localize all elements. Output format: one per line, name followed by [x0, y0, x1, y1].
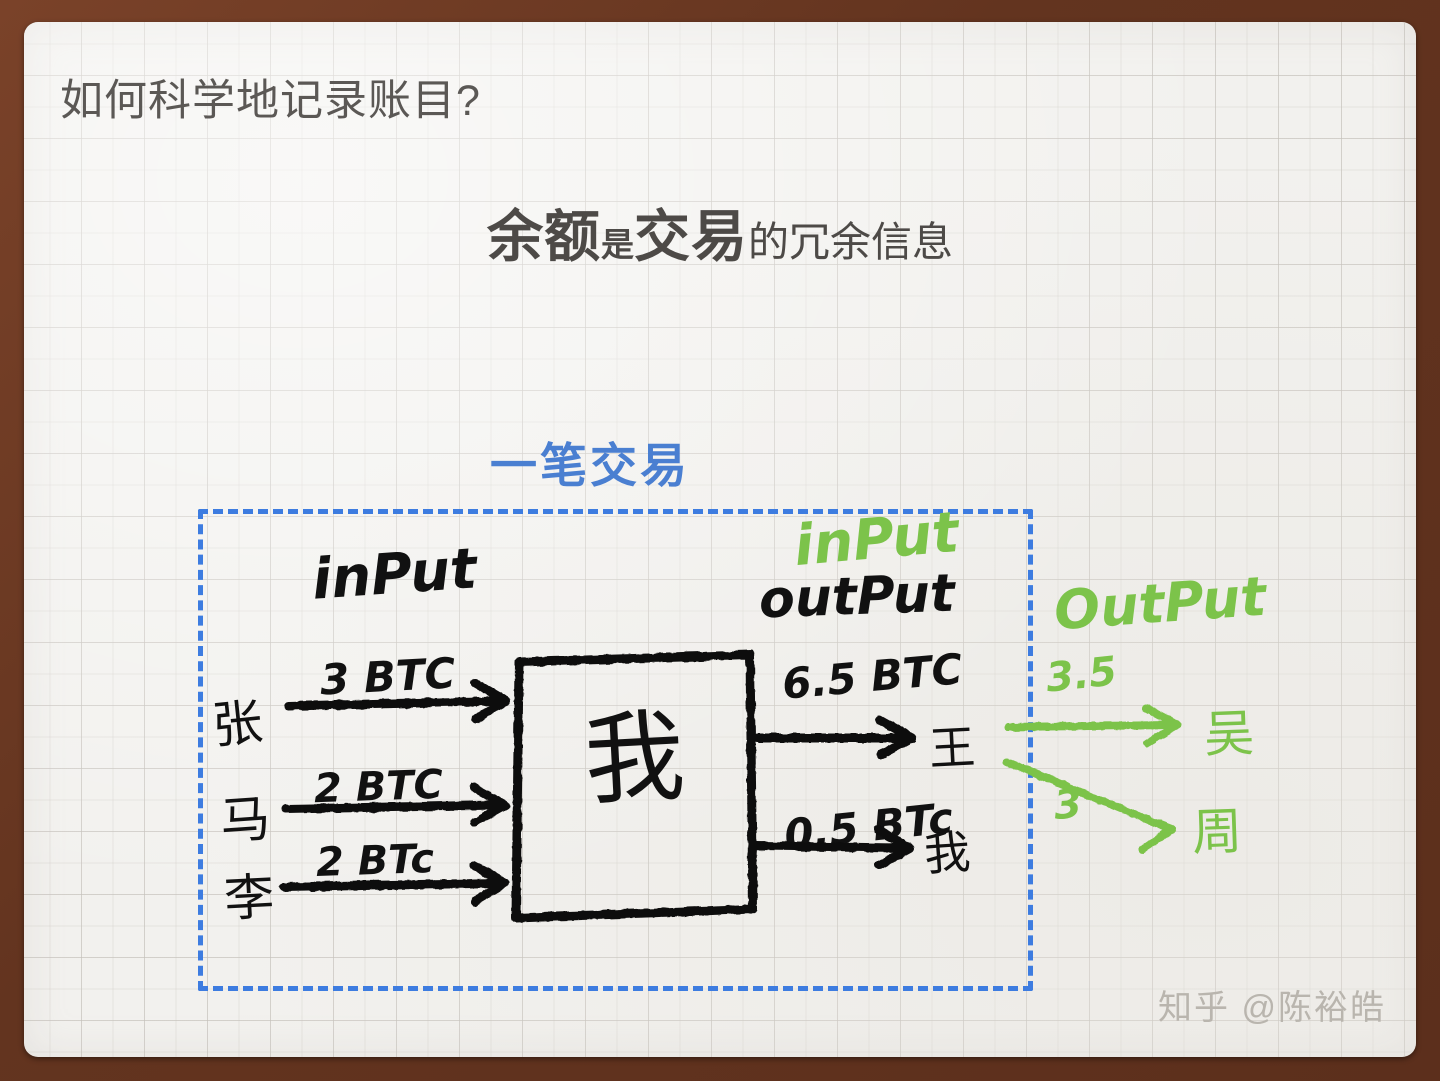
watermark: 知乎 @陈裕皓 [1158, 980, 1386, 1029]
output-arrow-2 [757, 846, 904, 848]
input-arrow-2 [286, 805, 500, 809]
slide-frame: 如何科学地记录账目? 余额是交易的冗余信息 一笔交易 inPut inPut o… [0, 0, 1440, 1081]
input-arrow-1 [288, 701, 502, 706]
paper-canvas: 如何科学地记录账目? 余额是交易的冗余信息 一笔交易 inPut inPut o… [24, 22, 1416, 1057]
center-node-box [516, 655, 753, 918]
green-arrowhead-2 [1136, 815, 1172, 849]
input-arrow-3 [284, 883, 500, 887]
green-arrow-1 [1008, 725, 1172, 727]
diagram-strokes [24, 22, 1416, 1057]
